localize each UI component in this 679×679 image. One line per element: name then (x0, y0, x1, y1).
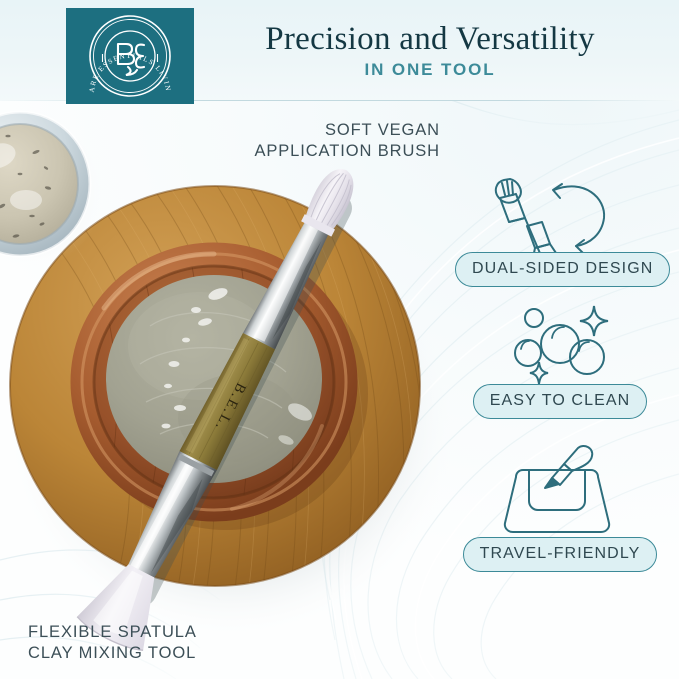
brand-logo: BARE ESSENTIALS LIVING BEAUTY SUPPLIES (66, 8, 194, 104)
feature-label-wrap-2: TRAVEL-FRIENDLY (455, 537, 665, 572)
dry-clay-bowl (0, 96, 104, 281)
badge-dual-sided-design[interactable]: DUAL-SIDED DESIGN (455, 252, 670, 287)
feature-label-wrap-0: DUAL-SIDED DESIGN (455, 252, 665, 287)
feature-travel-friendly: TRAVEL-FRIENDLY (455, 443, 665, 572)
page-subtitle: IN ONE TOOL (200, 60, 660, 80)
page-title: Precision and Versatility (200, 19, 660, 59)
travel-pouch-icon (455, 443, 665, 537)
bare-essentials-living-seal-logo: BARE ESSENTIALS LIVING BEAUTY SUPPLIES (82, 12, 178, 100)
dual-ended-brush-rotation-icon (455, 160, 665, 252)
badge-easy-to-clean[interactable]: EASY TO CLEAN (473, 384, 648, 419)
feature-dual-sided-design: DUAL-SIDED DESIGN (455, 160, 665, 287)
infographic-canvas: BARE ESSENTIALS LIVING BEAUTY SUPPLIES P… (0, 0, 679, 679)
feature-label-wrap-1: EASY TO CLEAN (455, 384, 665, 419)
bubbles-sparkle-icon (455, 300, 665, 384)
feature-easy-to-clean: EASY TO CLEAN (455, 300, 665, 419)
badge-travel-friendly[interactable]: TRAVEL-FRIENDLY (463, 537, 658, 572)
callout-flexible-spatula-clay-mixing-tool: FLEXIBLE SPATULA CLAY MIXING TOOL (28, 622, 328, 664)
callout-soft-vegan-application-brush: SOFT VEGAN APPLICATION BRUSH (188, 120, 440, 162)
